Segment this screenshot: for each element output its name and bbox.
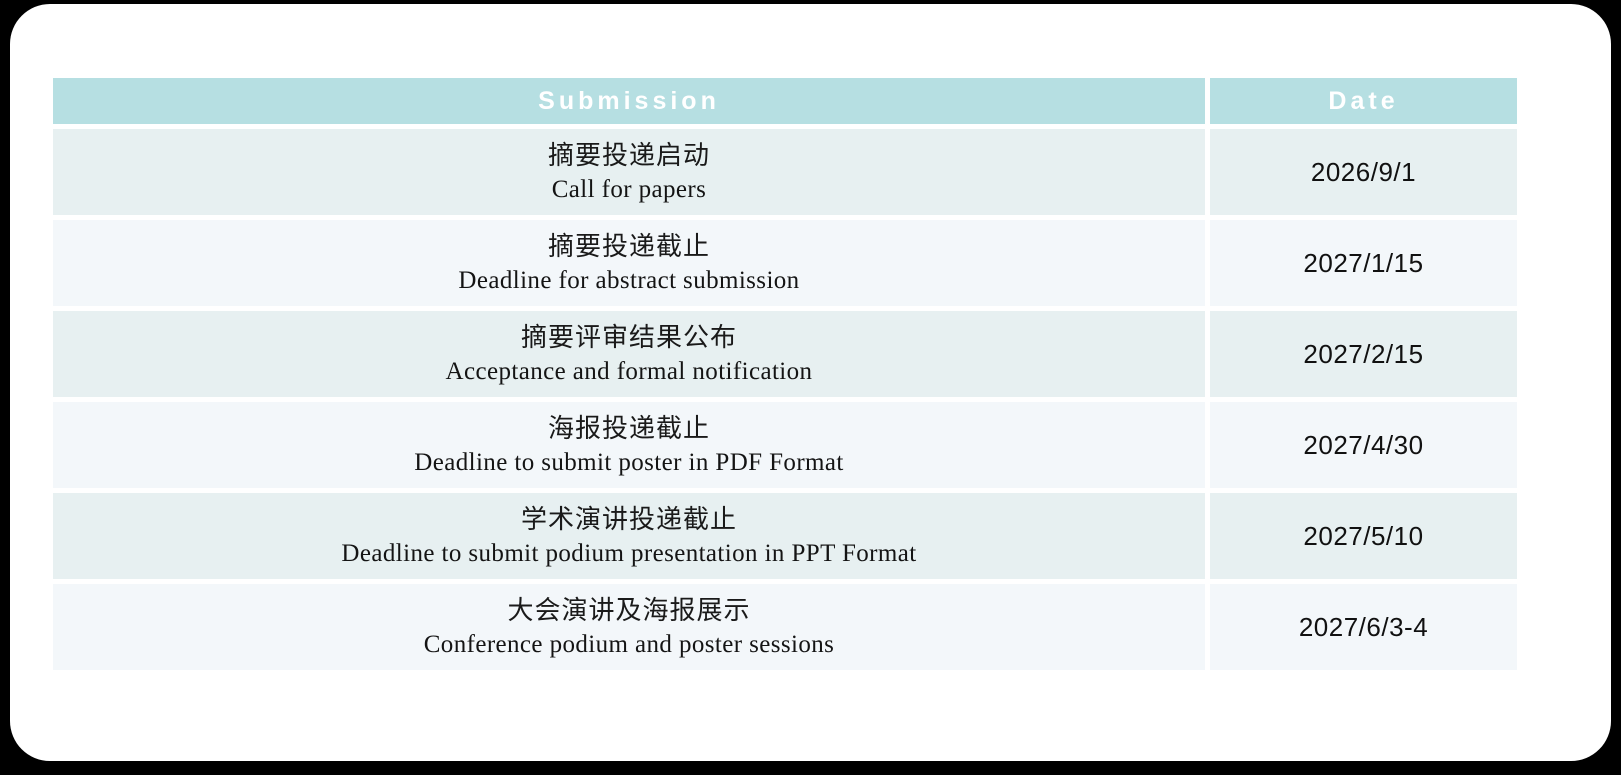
table-row: 摘要评审结果公布 Acceptance and formal notificat… xyxy=(53,311,1517,397)
submission-cell: 摘要投递启动 Call for papers xyxy=(53,129,1205,215)
submission-cell: 海报投递截止 Deadline to submit poster in PDF … xyxy=(53,402,1205,488)
date-value: 2027/5/10 xyxy=(1210,521,1517,552)
table-row: 海报投递截止 Deadline to submit poster in PDF … xyxy=(53,402,1517,488)
date-value: 2027/4/30 xyxy=(1210,430,1517,461)
submission-cell: 摘要评审结果公布 Acceptance and formal notificat… xyxy=(53,311,1205,397)
table-row: 大会演讲及海报展示 Conference podium and poster s… xyxy=(53,584,1517,670)
table-row: 摘要投递启动 Call for papers 2026/9/1 xyxy=(53,129,1517,215)
submission-cell: 学术演讲投递截止 Deadline to submit podium prese… xyxy=(53,493,1205,579)
submission-label-cn: 大会演讲及海报展示 xyxy=(53,593,1205,627)
submission-label-cn: 摘要投递启动 xyxy=(53,138,1205,172)
submission-label-en: Deadline for abstract submission xyxy=(53,264,1205,297)
date-cell: 2026/9/1 xyxy=(1210,129,1517,215)
submission-label-cn: 摘要投递截止 xyxy=(53,229,1205,263)
date-cell: 2027/5/10 xyxy=(1210,493,1517,579)
date-cell: 2027/6/3-4 xyxy=(1210,584,1517,670)
submission-cell: 摘要投递截止 Deadline for abstract submission xyxy=(53,220,1205,306)
submission-label-en: Deadline to submit poster in PDF Format xyxy=(53,446,1205,479)
date-value: 2027/6/3-4 xyxy=(1210,612,1517,643)
column-header-submission: Submission xyxy=(53,78,1205,124)
submission-label-en: Acceptance and formal notification xyxy=(53,355,1205,388)
content-card: Submission Date 摘要投递启动 Call for papers xyxy=(10,4,1611,761)
date-cell: 2027/1/15 xyxy=(1210,220,1517,306)
submission-schedule-table: Submission Date 摘要投递启动 Call for papers xyxy=(53,78,1517,670)
date-value: 2027/2/15 xyxy=(1210,339,1517,370)
date-cell: 2027/2/15 xyxy=(1210,311,1517,397)
table-header: Submission Date xyxy=(53,78,1517,124)
submission-label-en: Conference podium and poster sessions xyxy=(53,628,1205,661)
submission-cell: 大会演讲及海报展示 Conference podium and poster s… xyxy=(53,584,1205,670)
date-value: 2027/1/15 xyxy=(1210,248,1517,279)
date-value: 2026/9/1 xyxy=(1210,157,1517,188)
table-body: 摘要投递启动 Call for papers 2026/9/1 xyxy=(53,124,1517,670)
submission-label-cn: 摘要评审结果公布 xyxy=(53,320,1205,354)
submission-label-en: Deadline to submit podium presentation i… xyxy=(53,537,1205,570)
table-row: 学术演讲投递截止 Deadline to submit podium prese… xyxy=(53,493,1517,579)
column-header-date: Date xyxy=(1210,78,1517,124)
table-header-row: Submission Date xyxy=(53,78,1517,124)
submission-label-en: Call for papers xyxy=(53,173,1205,206)
date-cell: 2027/4/30 xyxy=(1210,402,1517,488)
page-canvas: Submission Date 摘要投递启动 Call for papers xyxy=(0,0,1621,775)
submission-label-cn: 海报投递截止 xyxy=(53,411,1205,445)
submission-label-cn: 学术演讲投递截止 xyxy=(53,502,1205,536)
table-row: 摘要投递截止 Deadline for abstract submission … xyxy=(53,220,1517,306)
